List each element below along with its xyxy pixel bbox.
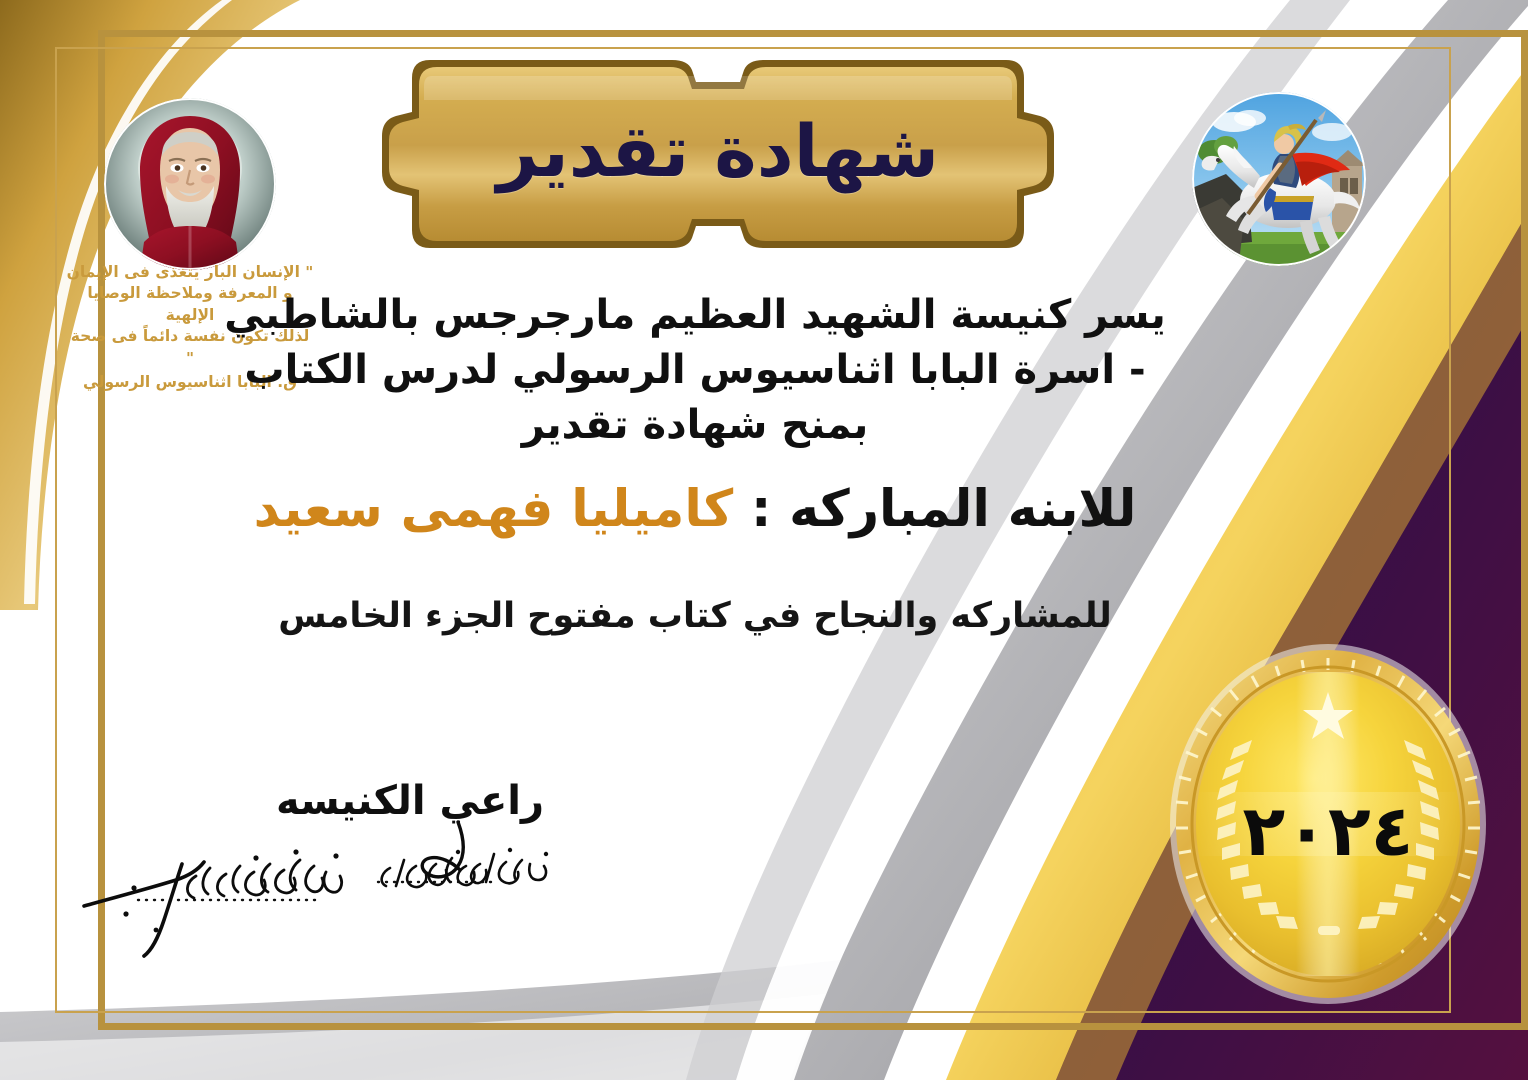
achievement-text: للمشاركه والنجاح في كتاب مفتوح الجزء الخ… [150, 596, 1240, 636]
saint-athanasius-illustration [104, 98, 276, 270]
body-line-1: يسر كنيسة الشهيد العظيم مارجرجس بالشاطبي [150, 288, 1240, 343]
saint-george-icon [1192, 92, 1366, 266]
recipient-line: للابنه المباركه : كاميليا فهمى سعيد [150, 480, 1240, 539]
signature-title: راعي الكنيسه [200, 778, 620, 824]
medal-year: ٢٠٢٤ [1168, 790, 1488, 872]
recipient-label: للابنه المباركه : [751, 480, 1136, 539]
quote-line-1: " الإنسان البار يتغذى فى الإيمان [66, 262, 314, 283]
certificate-page: شهادة تقدير [0, 0, 1528, 1080]
year-medal: ٢٠٢٤ [1168, 640, 1488, 1008]
certificate-title: شهادة تقدير [372, 56, 1064, 252]
handwritten-signatures [60, 820, 660, 960]
title-banner: شهادة تقدير [372, 56, 1064, 252]
recipient-name: كاميليا فهمى سعيد [254, 480, 734, 539]
body-line-2: - اسرة البابا اثناسيوس الرسولي لدرس الكت… [150, 343, 1240, 398]
saint-athanasius-icon [104, 98, 276, 270]
body-line-3: بمنح شهادة تقدير [150, 398, 1240, 453]
certificate-body: يسر كنيسة الشهيد العظيم مارجرجس بالشاطبي… [150, 288, 1240, 454]
saint-george-illustration [1192, 92, 1366, 266]
signature-area [60, 820, 660, 960]
